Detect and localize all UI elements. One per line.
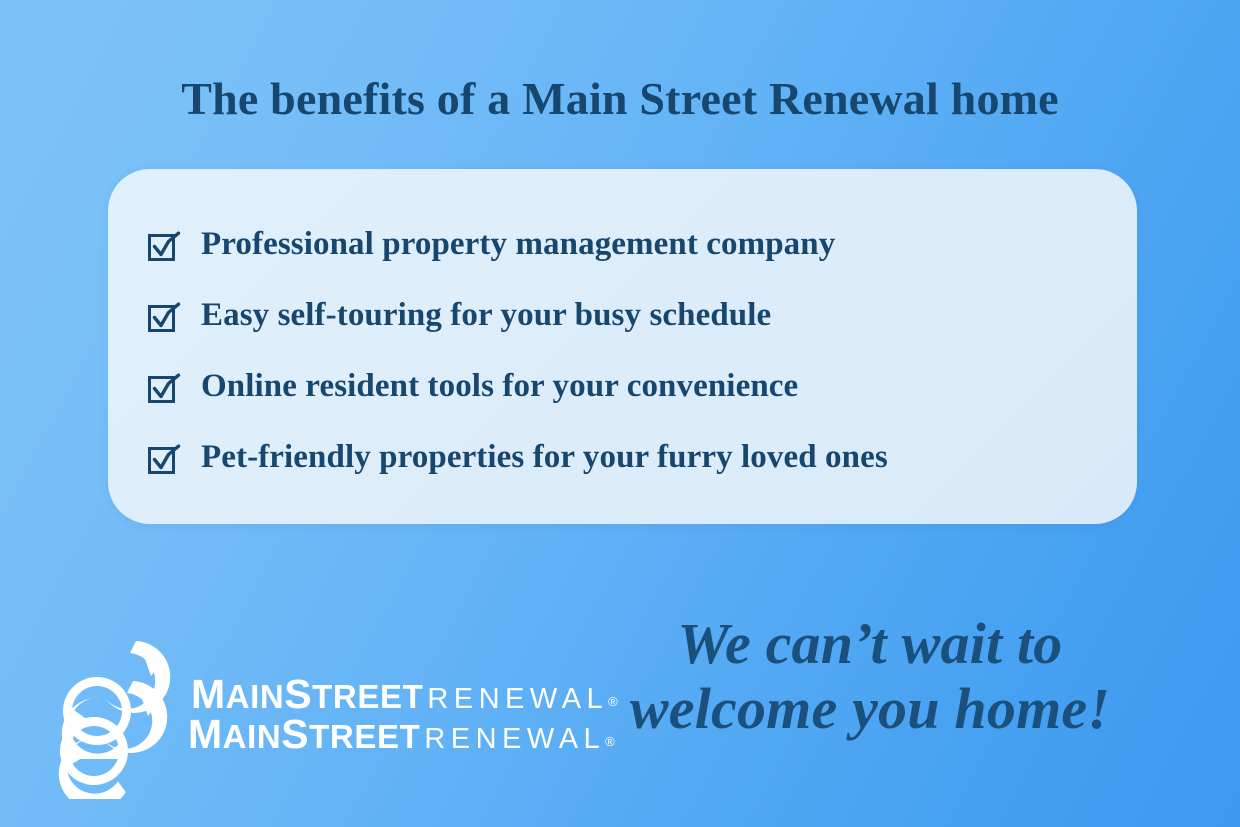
benefits-card: Professional property management company… [108, 169, 1137, 524]
brand-logo: MAINSTREET RENEWAL® [54, 673, 615, 799]
wordmark-s: S [281, 711, 309, 757]
closing-message: We can’t wait to welcome you home! [560, 612, 1180, 742]
brand-wordmark: MAINSTREET [188, 711, 420, 757]
checked-box-icon [147, 229, 181, 263]
wordmark-m: M [188, 711, 223, 757]
wordmark-ain: AIN [223, 718, 282, 755]
benefits-list: Professional property management company… [147, 209, 1113, 493]
interlocking-rings-logo-icon [54, 673, 180, 799]
closing-line-2: welcome you home! [560, 677, 1180, 742]
closing-line-1: We can’t wait to [560, 612, 1180, 677]
benefit-label: Pet-friendly properties for your furry l… [201, 439, 888, 476]
list-item: Pet-friendly properties for your furry l… [147, 422, 1113, 493]
brand-wordmark-group: MAINSTREET RENEWAL® [188, 714, 615, 754]
list-item: Online resident tools for your convenien… [147, 351, 1113, 422]
checked-box-icon [147, 371, 181, 405]
list-item: Professional property management company [147, 209, 1113, 280]
list-item: Easy self-touring for your busy schedule [147, 280, 1113, 351]
wordmark-treet: TREET [309, 718, 420, 755]
checked-box-icon [147, 300, 181, 334]
benefit-label: Professional property management company [201, 226, 835, 263]
promo-poster: The benefits of a Main Street Renewal ho… [0, 0, 1240, 827]
page-title: The benefits of a Main Street Renewal ho… [0, 73, 1240, 125]
benefit-label: Easy self-touring for your busy schedule [201, 297, 771, 334]
checked-box-icon [147, 442, 181, 476]
benefit-label: Online resident tools for your convenien… [201, 368, 798, 405]
